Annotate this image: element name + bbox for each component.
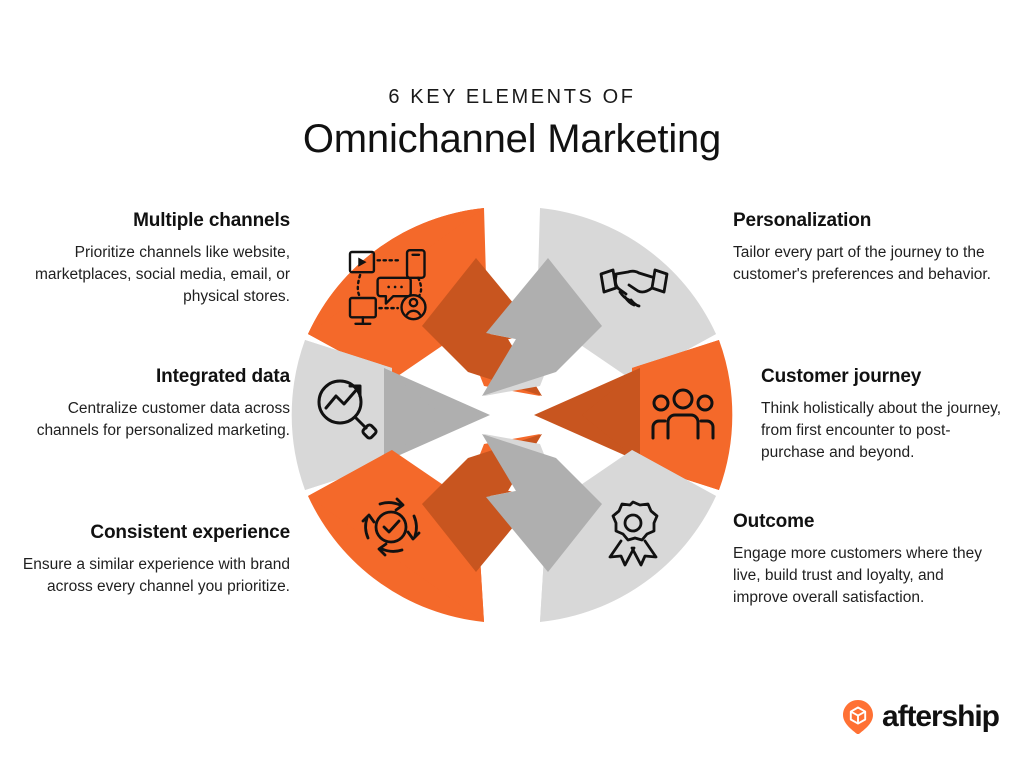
eyebrow-text: 6 KEY ELEMENTS OF bbox=[0, 86, 1024, 109]
element-body: Centralize customer data across channels… bbox=[14, 398, 290, 442]
aftership-logo[interactable]: aftership bbox=[843, 700, 999, 734]
element-body: Ensure a similar experience with brand a… bbox=[14, 554, 290, 598]
element-block-integrated-data: Integrated data Centralize customer data… bbox=[14, 366, 290, 442]
element-title: Customer journey bbox=[761, 366, 1013, 388]
element-title: Personalization bbox=[733, 210, 1001, 232]
page-header: 6 KEY ELEMENTS OF Omnichannel Marketing bbox=[0, 86, 1024, 162]
element-body: Think holistically about the journey, fr… bbox=[761, 398, 1013, 464]
element-title: Consistent experience bbox=[14, 522, 290, 544]
logo-wordmark: aftership bbox=[882, 702, 999, 732]
element-title: Outcome bbox=[733, 511, 1001, 533]
element-block-customer-journey: Customer journey Think holistically abou… bbox=[761, 366, 1013, 464]
element-title: Integrated data bbox=[14, 366, 290, 388]
omnichannel-wedge-diagram bbox=[272, 200, 752, 630]
page-title: Omnichannel Marketing bbox=[0, 117, 1024, 162]
element-body: Prioritize channels like website, market… bbox=[14, 242, 290, 308]
element-block-consistent-experience: Consistent experience Ensure a similar e… bbox=[14, 522, 290, 598]
element-block-personalization: Personalization Tailor every part of the… bbox=[733, 210, 1001, 286]
element-body: Engage more customers where they live, b… bbox=[733, 543, 1001, 609]
element-body: Tailor every part of the journey to the … bbox=[733, 242, 1001, 286]
element-block-multiple-channels: Multiple channels Prioritize channels li… bbox=[14, 210, 290, 308]
element-title: Multiple channels bbox=[14, 210, 290, 232]
element-block-outcome: Outcome Engage more customers where they… bbox=[733, 511, 1001, 609]
location-pin-box-icon bbox=[843, 700, 873, 734]
